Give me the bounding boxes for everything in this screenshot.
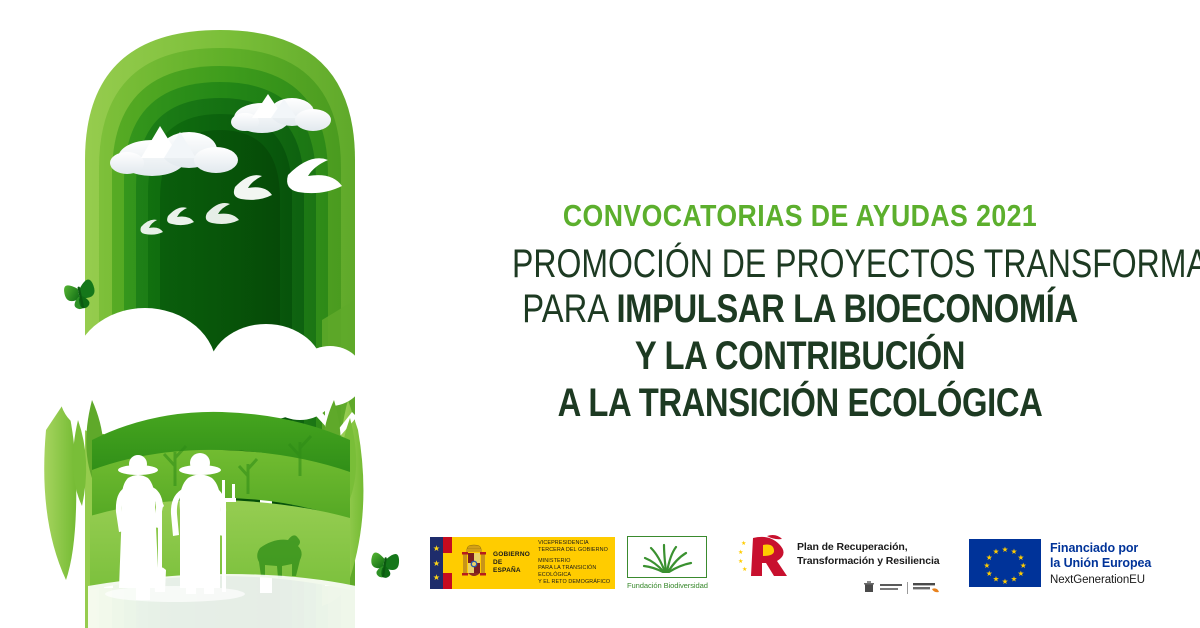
- grass-icon: [627, 536, 707, 578]
- prtr-title: Plan de Recuperación, Transformación y R…: [797, 541, 940, 569]
- svg-text:★: ★: [993, 547, 1000, 556]
- headline-line-2-thin: PARA: [522, 287, 616, 331]
- spain-eu-flag-bars: ★ ★ ★: [430, 537, 455, 589]
- svg-text:★: ★: [738, 558, 743, 565]
- logo-gobierno-de-espana: ★ ★ ★: [430, 537, 615, 589]
- svg-text:★: ★: [983, 561, 990, 570]
- svg-text:★: ★: [738, 549, 743, 556]
- headline-line-2: PARA IMPULSAR LA BIOECONOMÍA: [505, 286, 1095, 333]
- svg-text:★: ★: [1011, 547, 1018, 556]
- butterfly-right: [369, 551, 400, 580]
- dept-line-5: Y EL RETO DEMOGRÁFICO: [538, 579, 615, 586]
- headline-line-2-bold: IMPULSAR LA BIOECONOMÍA: [616, 287, 1077, 331]
- prtr-sub-logos: [737, 581, 947, 594]
- logo-plan-recuperacion: ★ ★ ★ ★ Plan de Recuperación, Tra: [737, 532, 947, 594]
- eu-star-icon: ★: [433, 560, 440, 567]
- dept-line-4: PARA LA TRANSICIÓN ECOLÓGICA: [538, 565, 615, 579]
- headline-line-3: Y LA CONTRIBUCIÓN: [505, 333, 1095, 380]
- svg-text:★: ★: [993, 575, 1000, 584]
- svg-text:★: ★: [1002, 545, 1009, 554]
- headline-block: CONVOCATORIAS DE AYUDAS 2021 PROMOCIÓN D…: [440, 200, 1160, 427]
- fundacion-caption: Fundación Biodiversidad: [627, 581, 708, 590]
- eu-title-line1: Financiado por: [1050, 541, 1151, 557]
- eu-star-icon: ★: [433, 545, 440, 552]
- eu-flag-icon: ★ ★ ★ ★ ★ ★ ★ ★ ★ ★ ★ ★: [969, 539, 1041, 587]
- logo-union-europea: ★ ★ ★ ★ ★ ★ ★ ★ ★ ★ ★ ★ Fi: [969, 539, 1151, 587]
- prtr-wordmark-mini-icon: [913, 581, 939, 594]
- spain-coat-of-arms-icon: [455, 537, 493, 589]
- prtr-title-line1: Plan de Recuperación,: [797, 541, 940, 555]
- gobierno-mini-wordmark-icon: [880, 581, 902, 594]
- dept-line-1: VICEPRESIDENCIA: [538, 540, 615, 547]
- spain-arms-mini-icon: [863, 581, 875, 594]
- eu-star-icon: ★: [433, 574, 440, 581]
- eu-text-block: Financiado por la Unión Europea NextGene…: [1050, 541, 1151, 586]
- headline-line-1: PROMOCIÓN DE PROYECTOS TRANSFORMADORES: [512, 243, 1088, 286]
- svg-text:★: ★: [741, 540, 746, 547]
- logo-fundacion-biodiversidad: Fundación Biodiversidad: [627, 536, 719, 590]
- gobierno-name-line1: GOBIERNO: [493, 551, 531, 559]
- svg-text:★: ★: [1002, 577, 1009, 586]
- eu-title-line2: la Unión Europea: [1050, 556, 1151, 572]
- gobierno-name: GOBIERNO DE ESPAÑA: [493, 537, 531, 589]
- dept-line-3: MINISTERIO: [538, 558, 615, 565]
- paper-cut-nature-illustration: [0, 0, 440, 628]
- logo-divider: [907, 582, 908, 594]
- svg-text:★: ★: [986, 569, 993, 578]
- svg-text:★: ★: [1011, 575, 1018, 584]
- headline-kicker: CONVOCATORIAS DE AYUDAS 2021: [490, 200, 1109, 233]
- dept-line-2: TERCERA DEL GOBIERNO: [538, 547, 615, 554]
- institutional-logo-bar: ★ ★ ★: [430, 528, 1170, 598]
- eu-subtitle: NextGenerationEU: [1050, 574, 1151, 586]
- gobierno-name-line2: DE ESPAÑA: [493, 559, 531, 575]
- headline-line-4: A LA TRANSICIÓN ECOLÓGICA: [505, 380, 1095, 427]
- svg-text:★: ★: [986, 553, 993, 562]
- poster-canvas: CONVOCATORIAS DE AYUDAS 2021 PROMOCIÓN D…: [0, 0, 1200, 628]
- svg-text:★: ★: [742, 566, 747, 573]
- prtr-emblem-icon: ★ ★ ★ ★: [737, 532, 793, 578]
- prtr-title-line2: Transformación y Resiliencia: [797, 555, 940, 569]
- gobierno-department-text: VICEPRESIDENCIA TERCERA DEL GOBIERNO MIN…: [531, 537, 615, 589]
- svg-text:★: ★: [1017, 569, 1024, 578]
